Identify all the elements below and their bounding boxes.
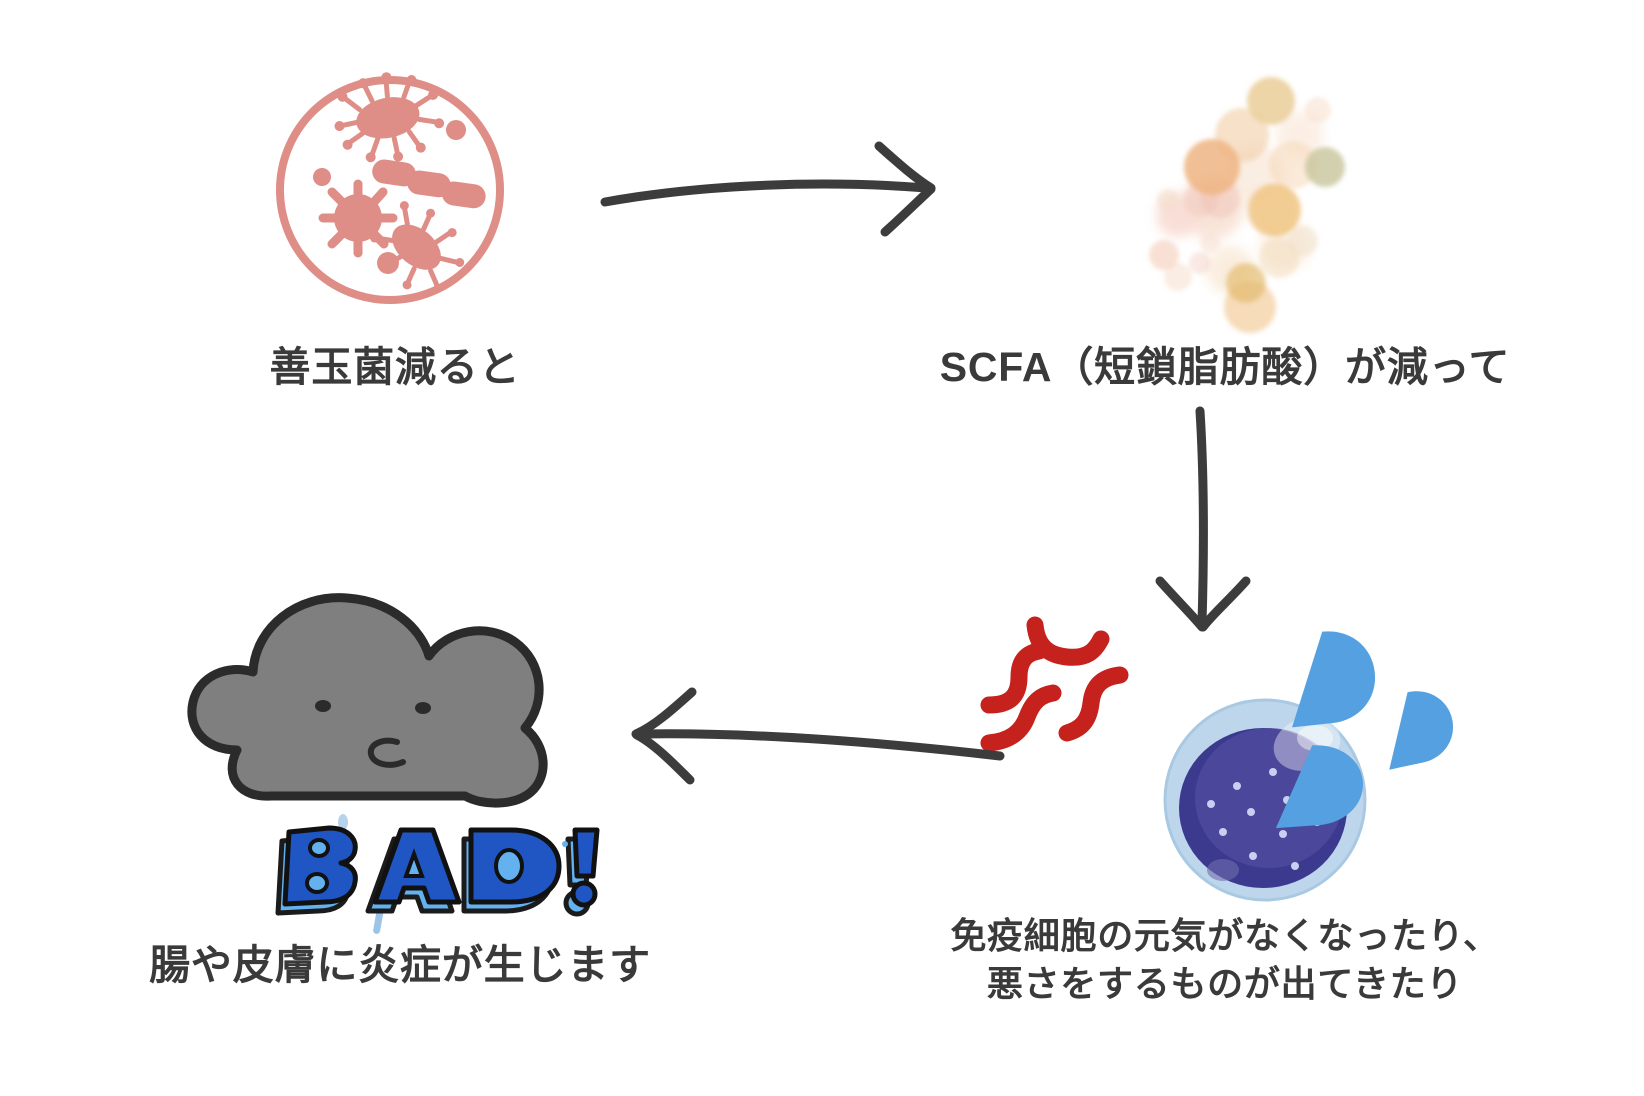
immune-cell-icon bbox=[975, 605, 1435, 885]
caption-scfa: SCFA（短鎖脂肪酸）が減って bbox=[830, 340, 1620, 394]
bad-badge bbox=[278, 828, 597, 914]
arrow-bacteria-to-scfa bbox=[595, 140, 975, 260]
petri-dish-bacteria-icon bbox=[270, 70, 510, 310]
sad-cloud-icon bbox=[175, 550, 595, 940]
caption-immune-line2: 悪さをするものが出てきたり bbox=[830, 960, 1620, 1008]
caption-inflammation: 腸や皮膚に炎症が生じます bbox=[10, 938, 790, 992]
scfa-molecule-bubbles-icon bbox=[1060, 55, 1330, 320]
caption-bacteria: 善玉菌減ると bbox=[0, 340, 790, 394]
caption-immune: 免疫細胞の元気がなくなったり、 悪さをするものが出てきたり bbox=[830, 912, 1620, 1007]
arrow-immune-to-inflammation bbox=[610, 670, 1010, 800]
caption-immune-line1: 免疫細胞の元気がなくなったり、 bbox=[830, 912, 1620, 960]
cloud-eye-left bbox=[315, 700, 331, 712]
arrow-scfa-to-immune bbox=[1120, 405, 1300, 640]
diagram-canvas: 善玉菌減ると SCFA（短鎖脂肪酸）が減って 免疫細胞の元気がなくなったり、 悪… bbox=[0, 0, 1644, 1096]
cloud-eye-right bbox=[415, 702, 431, 714]
